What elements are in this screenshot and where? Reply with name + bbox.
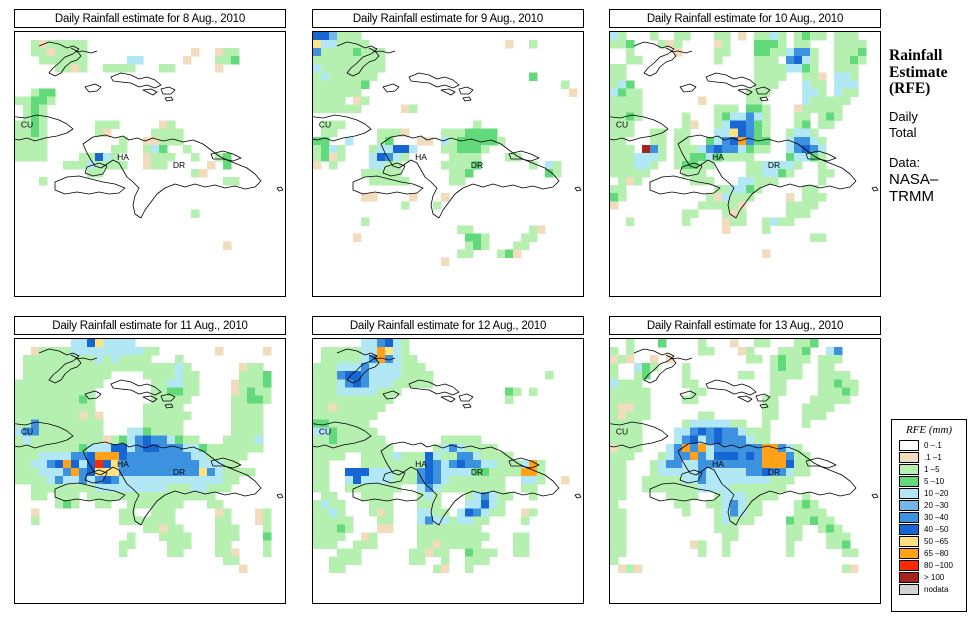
svg-text:CU: CU [616, 120, 628, 130]
figure-subtitle: Daily Total [889, 109, 971, 141]
rainfall-map: CUHADR [312, 31, 584, 297]
legend-swatch [899, 584, 919, 595]
legend-row: 5 –10 [899, 475, 966, 487]
legend-label: 10 –20 [924, 489, 948, 498]
legend-row: 30 –40 [899, 511, 966, 523]
figure-source-line: TRMM [889, 188, 971, 205]
figure-source-line: NASA– [889, 171, 971, 188]
panel-title: Daily Rainfall estimate for 8 Aug., 2010 [14, 9, 286, 28]
legend-swatch [899, 476, 919, 487]
svg-text:CU: CU [319, 120, 331, 130]
svg-text:HA: HA [712, 459, 724, 469]
legend-row: 65 –80 [899, 547, 966, 559]
legend-row: 0 –.1 [899, 439, 966, 451]
svg-text:DR: DR [471, 160, 483, 170]
rainfall-map: CUHADR [14, 31, 286, 297]
legend-label: 1 –5 [924, 465, 940, 474]
svg-text:HA: HA [712, 152, 724, 162]
figure-source-label: Data: [889, 155, 971, 171]
svg-text:DR: DR [173, 160, 185, 170]
legend-label: .1 –1 [924, 453, 942, 462]
figure-caption: Rainfall Estimate (RFE) Daily Total Data… [889, 48, 971, 205]
legend-row: 10 –20 [899, 487, 966, 499]
legend-row: .1 –1 [899, 451, 966, 463]
svg-text:HA: HA [415, 459, 427, 469]
svg-text:HA: HA [415, 152, 427, 162]
legend-swatch [899, 548, 919, 559]
legend-swatch [899, 572, 919, 583]
legend-label: 30 –40 [924, 513, 948, 522]
figure-title-line: Rainfall [889, 48, 971, 65]
figure-title-line: Estimate [889, 65, 971, 82]
legend-row: 40 –50 [899, 523, 966, 535]
legend: RFE (mm) 0 –.1.1 –11 –55 –1010 –2020 –30… [891, 419, 967, 612]
svg-text:HA: HA [117, 459, 129, 469]
legend-swatch [899, 512, 919, 523]
legend-label: 50 –65 [924, 537, 948, 546]
legend-swatch [899, 464, 919, 475]
legend-label: 40 –50 [924, 525, 948, 534]
legend-label: 0 –.1 [924, 441, 942, 450]
rainfall-map: CUHADR [14, 338, 286, 604]
legend-swatch [899, 500, 919, 511]
legend-row: 20 –30 [899, 499, 966, 511]
rainfall-map: CUHADR [609, 338, 881, 604]
svg-text:CU: CU [21, 427, 33, 437]
legend-swatch [899, 536, 919, 547]
legend-row: > 100 [899, 571, 966, 583]
legend-swatch [899, 452, 919, 463]
legend-title: RFE (mm) [892, 424, 966, 436]
svg-text:CU: CU [319, 427, 331, 437]
svg-text:DR: DR [173, 467, 185, 477]
svg-text:DR: DR [768, 160, 780, 170]
rainfall-map: CUHADR [609, 31, 881, 297]
figure-title: Rainfall Estimate (RFE) [889, 48, 971, 98]
legend-row: 50 –65 [899, 535, 966, 547]
panel-title: Daily Rainfall estimate for 9 Aug., 2010 [312, 9, 584, 28]
legend-row: 1 –5 [899, 463, 966, 475]
svg-text:DR: DR [768, 467, 780, 477]
figure-subtitle-line: Daily [889, 109, 971, 125]
legend-row: 80 –100 [899, 559, 966, 571]
panel-title: Daily Rainfall estimate for 13 Aug., 201… [609, 316, 881, 335]
legend-swatch [899, 560, 919, 571]
legend-label: 65 –80 [924, 549, 948, 558]
figure-title-line: (RFE) [889, 81, 971, 98]
legend-label: 80 –100 [924, 561, 953, 570]
rainfall-map: CUHADR [312, 338, 584, 604]
svg-text:CU: CU [21, 120, 33, 130]
panel-title: Daily Rainfall estimate for 10 Aug., 201… [609, 9, 881, 28]
svg-text:DR: DR [471, 467, 483, 477]
panel-title: Daily Rainfall estimate for 12 Aug., 201… [312, 316, 584, 335]
legend-swatch [899, 488, 919, 499]
legend-row: nodata [899, 583, 966, 595]
svg-text:HA: HA [117, 152, 129, 162]
legend-label: > 100 [924, 573, 944, 582]
legend-label: 20 –30 [924, 501, 948, 510]
legend-entries: 0 –.1.1 –11 –55 –1010 –2020 –3030 –4040 … [899, 439, 966, 595]
panel-title: Daily Rainfall estimate for 11 Aug., 201… [14, 316, 286, 335]
svg-text:CU: CU [616, 427, 628, 437]
figure-source: Data: NASA– TRMM [889, 155, 971, 205]
legend-swatch [899, 524, 919, 535]
legend-label: 5 –10 [924, 477, 944, 486]
legend-swatch [899, 440, 919, 451]
figure-subtitle-line: Total [889, 125, 971, 141]
legend-label: nodata [924, 585, 948, 594]
